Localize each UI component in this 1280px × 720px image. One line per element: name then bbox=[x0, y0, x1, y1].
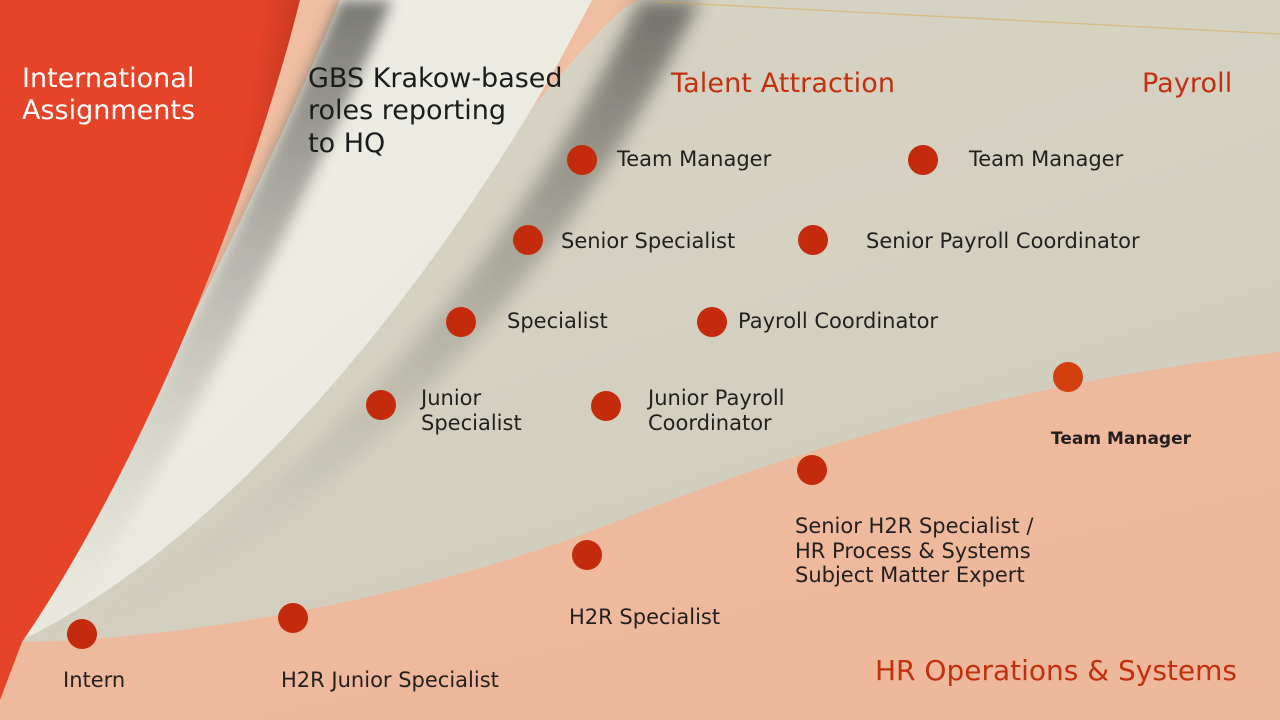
role-label-hr-ops-intern: Intern bbox=[63, 668, 125, 693]
role-label-talent-specialist: Specialist bbox=[507, 309, 608, 334]
role-dot-hr-ops-intern[interactable] bbox=[67, 619, 97, 649]
role-dot-payroll-senior-coordinator[interactable] bbox=[798, 225, 828, 255]
role-dot-hr-ops-h2r-junior-specialist[interactable] bbox=[278, 603, 308, 633]
role-dot-payroll-team-manager[interactable] bbox=[908, 145, 938, 175]
role-label-payroll-senior-coordinator: Senior Payroll Coordinator bbox=[866, 229, 1140, 254]
role-label-hr-ops-h2r-junior-specialist: H2R Junior Specialist bbox=[281, 668, 499, 693]
role-label-hr-ops-team-manager: Team Manager bbox=[1051, 430, 1191, 450]
band-title-hr-operations: HR Operations & Systems bbox=[875, 655, 1237, 687]
band-title-payroll: Payroll bbox=[1142, 69, 1232, 100]
role-dot-talent-specialist[interactable] bbox=[446, 307, 476, 337]
role-dot-hr-ops-team-manager[interactable] bbox=[1053, 362, 1083, 392]
role-label-payroll-team-manager: Team Manager bbox=[969, 147, 1123, 172]
role-label-hr-ops-senior-h2r-specialist: Senior H2R Specialist / HR Process & Sys… bbox=[795, 514, 1033, 588]
career-path-diagram: International Assignments GBS Krakow-bas… bbox=[0, 0, 1280, 720]
role-dot-hr-ops-senior-h2r-specialist[interactable] bbox=[797, 455, 827, 485]
role-label-payroll-junior-coordinator: Junior Payroll Coordinator bbox=[648, 386, 785, 435]
role-label-talent-team-manager: Team Manager bbox=[617, 147, 771, 172]
band-title-talent-attraction: Talent Attraction bbox=[671, 69, 895, 100]
role-label-payroll-coordinator: Payroll Coordinator bbox=[738, 309, 938, 334]
role-dot-payroll-junior-coordinator[interactable] bbox=[591, 391, 621, 421]
role-dot-talent-senior-specialist[interactable] bbox=[513, 225, 543, 255]
band-title-gbs-krakow: GBS Krakow-based roles reporting to HQ bbox=[308, 63, 563, 160]
role-label-talent-senior-specialist: Senior Specialist bbox=[561, 229, 735, 254]
role-dot-talent-junior-specialist[interactable] bbox=[366, 390, 396, 420]
role-label-talent-junior-specialist: Junior Specialist bbox=[421, 386, 522, 435]
role-label-hr-ops-h2r-specialist: H2R Specialist bbox=[569, 605, 720, 630]
role-dot-hr-ops-h2r-specialist[interactable] bbox=[572, 540, 602, 570]
role-dot-talent-team-manager[interactable] bbox=[567, 145, 597, 175]
role-dot-payroll-coordinator[interactable] bbox=[697, 307, 727, 337]
band-title-international-assignments: International Assignments bbox=[22, 63, 195, 128]
